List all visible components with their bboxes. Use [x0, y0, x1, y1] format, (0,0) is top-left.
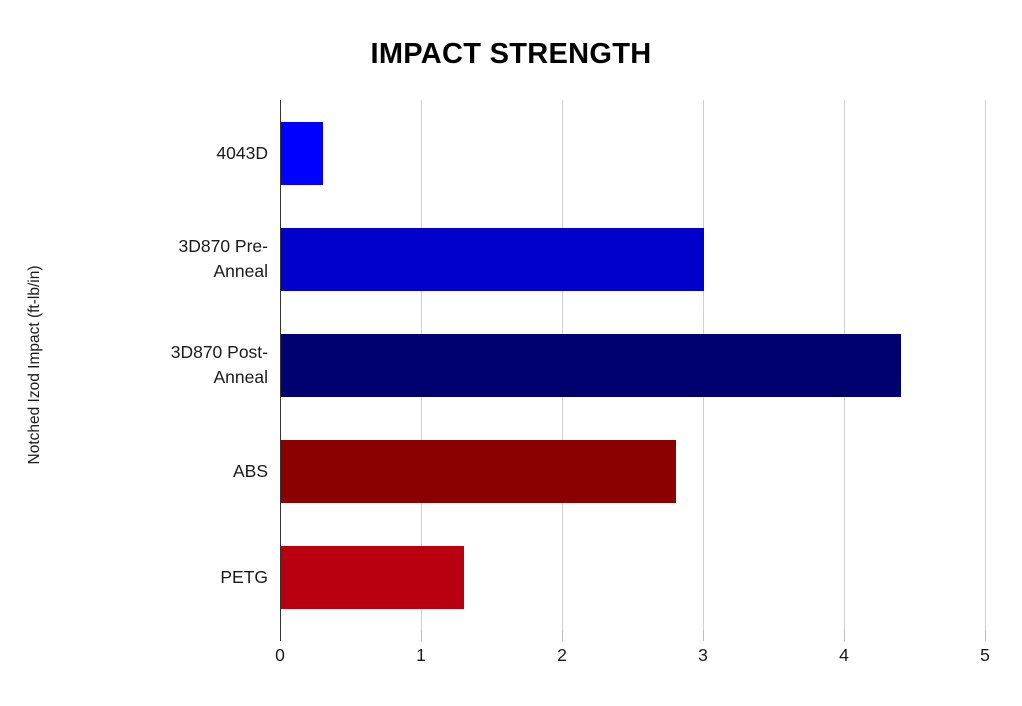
category-label-line: ABS — [18, 459, 268, 484]
x-axis-tick-label: 4 — [824, 645, 864, 666]
category-label: 4043D — [18, 141, 268, 166]
x-axis-tick-2 — [562, 630, 563, 641]
category-label: 3D870 Pre-Anneal — [18, 234, 268, 284]
category-label-line: Anneal — [18, 259, 268, 284]
bar[interactable] — [281, 122, 323, 185]
x-axis-tick-label: 5 — [965, 645, 1005, 666]
x-axis-tick-label: 3 — [683, 645, 723, 666]
plot-area — [280, 100, 985, 630]
category-label-line: 4043D — [18, 141, 268, 166]
bar[interactable] — [281, 228, 704, 291]
category-label-line: Anneal — [18, 365, 268, 390]
x-axis-tick-label: 1 — [401, 645, 441, 666]
x-axis-tick-5 — [985, 630, 986, 641]
category-label: ABS — [18, 459, 268, 484]
category-label-line: PETG — [18, 565, 268, 590]
x-axis-tick-label: 0 — [260, 645, 300, 666]
x-axis-tick-label: 2 — [542, 645, 582, 666]
x-axis-tick-1 — [421, 630, 422, 641]
category-label-line: 3D870 Post- — [18, 340, 268, 365]
bar[interactable] — [281, 546, 464, 609]
bar[interactable] — [281, 440, 676, 503]
chart-title: IMPACT STRENGTH — [0, 38, 1022, 71]
x-axis-tick-0 — [280, 630, 281, 641]
bar[interactable] — [281, 334, 901, 397]
category-label-line: 3D870 Pre- — [18, 234, 268, 259]
x-axis-tick-3 — [703, 630, 704, 641]
gridline-5 — [985, 100, 986, 630]
x-axis-tick-4 — [844, 630, 845, 641]
category-label: PETG — [18, 565, 268, 590]
impact-strength-chart: IMPACT STRENGTH Notched Izod Impact (ft-… — [0, 0, 1022, 706]
category-label: 3D870 Post-Anneal — [18, 340, 268, 390]
